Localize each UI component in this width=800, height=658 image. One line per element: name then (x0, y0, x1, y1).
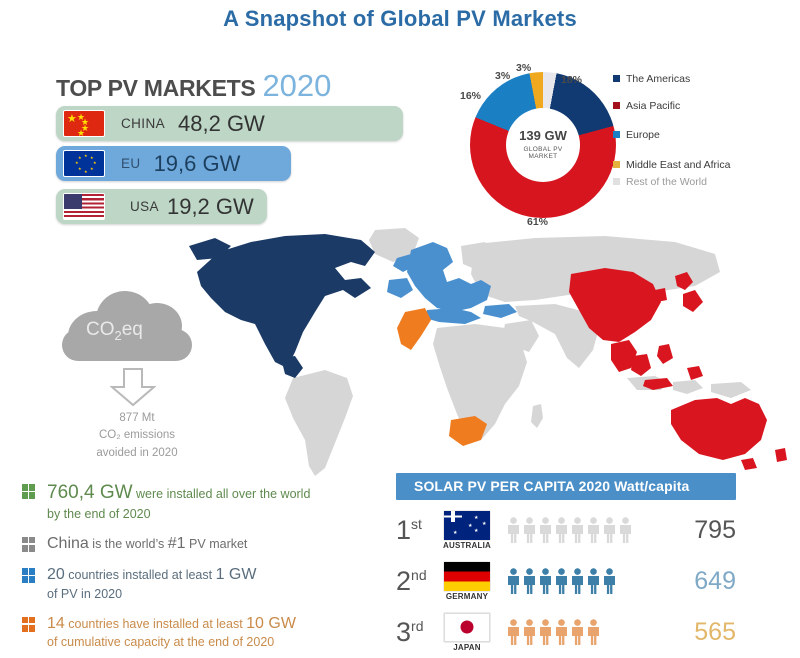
per-capita-row: 1st★★★★★AUSTRALIA795 (396, 509, 736, 551)
donut-label-rest-of-world: 3% (516, 62, 531, 74)
map-region-americas (189, 234, 375, 378)
fact-text: 14 countries have installed at least 10 … (47, 613, 296, 651)
usa-flag (63, 193, 105, 220)
legend-label: Rest of the World (626, 175, 707, 189)
person-icon (522, 619, 537, 645)
solar-panel-icon (22, 537, 35, 552)
australia-flag: ★★★★★ (444, 511, 490, 540)
person-icon (570, 568, 585, 594)
person-icon (602, 568, 617, 594)
world-map (175, 228, 800, 478)
legend-label: Asia Pacific (626, 99, 680, 113)
legend-label: Middle East and Africa (626, 158, 730, 172)
legend-swatch-icon (613, 131, 620, 138)
co2-line-2: CO₂ emissions (99, 429, 175, 441)
person-icon (618, 517, 633, 543)
people-pictogram (496, 619, 662, 645)
solar-panel-icon (22, 484, 35, 499)
fact-text: 760,4 GW were installed all over the wor… (47, 480, 310, 523)
donut-center-label: 139 GW GLOBAL PV MARKET (506, 108, 580, 182)
country-value: 19,2 GW (167, 194, 254, 220)
top-market-row-usa: USA 19,2 GW (56, 189, 267, 224)
person-icon (586, 568, 601, 594)
country-flag-box: ★★★★★AUSTRALIA (438, 511, 496, 550)
legend-item-the-americas: The Americas (613, 72, 793, 86)
person-icon (522, 517, 537, 543)
fact-item: China is the world’s #1 PV market (22, 533, 392, 555)
top-pv-markets-label: TOP PV MARKETS (56, 75, 255, 101)
fact-item: 760,4 GW were installed all over the wor… (22, 480, 392, 523)
country-name: CHINA (121, 116, 165, 131)
country-value: 48,2 GW (178, 111, 265, 137)
per-capita-value: 565 (662, 618, 736, 647)
world-map-svg (175, 228, 800, 478)
rank-label: 2nd (396, 566, 438, 597)
donut-center-sub2: MARKET (529, 153, 558, 160)
person-icon (522, 568, 537, 594)
fact-text: 20 countries installed at least 1 GWof P… (47, 564, 256, 602)
person-icon (506, 619, 521, 645)
legend-item-asia-pacific: Asia Pacific (613, 99, 793, 113)
co2-caption: 877 Mt CO₂ emissions avoided in 2020 (62, 410, 212, 462)
legend-swatch-icon (613, 178, 620, 185)
person-icon (554, 619, 569, 645)
per-capita-row: 3rdJAPAN565 (396, 611, 736, 653)
country-label: JAPAN (453, 643, 481, 652)
country-label: GERMANY (446, 592, 488, 601)
country-value: 19,6 GW (154, 151, 241, 177)
rank-label: 3rd (396, 617, 438, 648)
solar-panel-icon (22, 617, 35, 632)
fact-text: China is the world’s #1 PV market (47, 533, 247, 555)
top-market-row-eu: ★ ★ ★ ★ ★ ★ ★ ★ EU 19,6 GW (56, 146, 291, 181)
top-pv-markets-heading: TOP PV MARKETS2020 (56, 68, 331, 104)
co2-line-3: avoided in 2020 (96, 447, 177, 459)
page-title: A Snapshot of Global PV Markets (0, 6, 800, 32)
donut-label-middle-east-africa: 3% (495, 70, 510, 82)
global-pv-market-donut-chart: 139 GW GLOBAL PV MARKET (470, 72, 616, 218)
person-icon (538, 568, 553, 594)
solar-panel-icon (22, 568, 35, 583)
person-icon (570, 517, 585, 543)
rank-label: 1st (396, 515, 438, 546)
country-label: AUSTRALIA (443, 541, 491, 550)
legend-swatch-icon (613, 75, 620, 82)
cloud-icon: CO2eq (62, 285, 202, 363)
per-capita-value: 649 (662, 567, 736, 596)
down-arrow-icon (110, 367, 156, 407)
per-capita-rows: 1st★★★★★AUSTRALIA7952ndGERMANY6493rdJAPA… (396, 509, 736, 653)
country-name: USA (130, 199, 159, 214)
person-icon (506, 568, 521, 594)
fact-item: 14 countries have installed at least 10 … (22, 613, 392, 651)
legend-label: The Americas (626, 72, 690, 86)
person-icon (570, 619, 585, 645)
legend-label: Europe (626, 128, 660, 142)
legend-item-europe: Europe (613, 128, 793, 142)
country-flag-box: JAPAN (438, 613, 496, 652)
person-icon (538, 517, 553, 543)
eu-flag: ★ ★ ★ ★ ★ ★ ★ ★ (63, 150, 105, 177)
country-name: EU (121, 156, 141, 171)
person-icon (506, 517, 521, 543)
donut-label-europe: 16% (460, 90, 481, 102)
infographic-root: A Snapshot of Global PV Markets TOP PV M… (0, 0, 800, 658)
top-market-row-china: ★ ★ ★ ★ ★ CHINA 48,2 GW (56, 106, 403, 141)
country-flag-box: GERMANY (438, 562, 496, 601)
cloud-label: CO2eq (86, 319, 143, 343)
map-region-asia-pacific (569, 268, 787, 470)
solar-pv-per-capita-panel: SOLAR PV PER CAPITA 2020 Watt/capita 1st… (396, 473, 736, 653)
people-pictogram (496, 517, 662, 543)
person-icon (586, 517, 601, 543)
co2-avoided-block: CO2eq 877 Mt CO₂ emissions avoided in 20… (62, 285, 212, 363)
china-flag: ★ ★ ★ ★ ★ (63, 110, 105, 137)
top-pv-markets-year: 2020 (262, 68, 331, 103)
donut-center-value: 139 GW (519, 129, 567, 144)
legend-item-rest-of-the-world: Rest of the World (613, 175, 793, 189)
per-capita-value: 795 (662, 516, 736, 545)
donut-label-asia-pacific: 61% (527, 216, 548, 228)
legend-swatch-icon (613, 161, 620, 168)
donut-center-sub1: GLOBAL PV (524, 146, 563, 153)
germany-flag (444, 562, 490, 591)
key-facts-list: 760,4 GW were installed all over the wor… (22, 480, 392, 658)
legend-item-middle-east-and-africa: Middle East and Africa (613, 158, 793, 172)
co2-line-1: 877 Mt (119, 412, 154, 424)
per-capita-row: 2ndGERMANY649 (396, 560, 736, 602)
legend-swatch-icon (613, 102, 620, 109)
person-icon (554, 517, 569, 543)
per-capita-header: SOLAR PV PER CAPITA 2020 Watt/capita (396, 473, 736, 500)
donut-label-americas: 18% (561, 74, 582, 86)
person-icon (554, 568, 569, 594)
japan-flag (444, 613, 490, 642)
person-icon (538, 619, 553, 645)
donut-legend: The Americas Asia Pacific Europe Middle … (613, 72, 793, 202)
person-icon (586, 619, 601, 645)
people-pictogram (496, 568, 662, 594)
person-icon (602, 517, 617, 543)
fact-item: 20 countries installed at least 1 GWof P… (22, 564, 392, 602)
